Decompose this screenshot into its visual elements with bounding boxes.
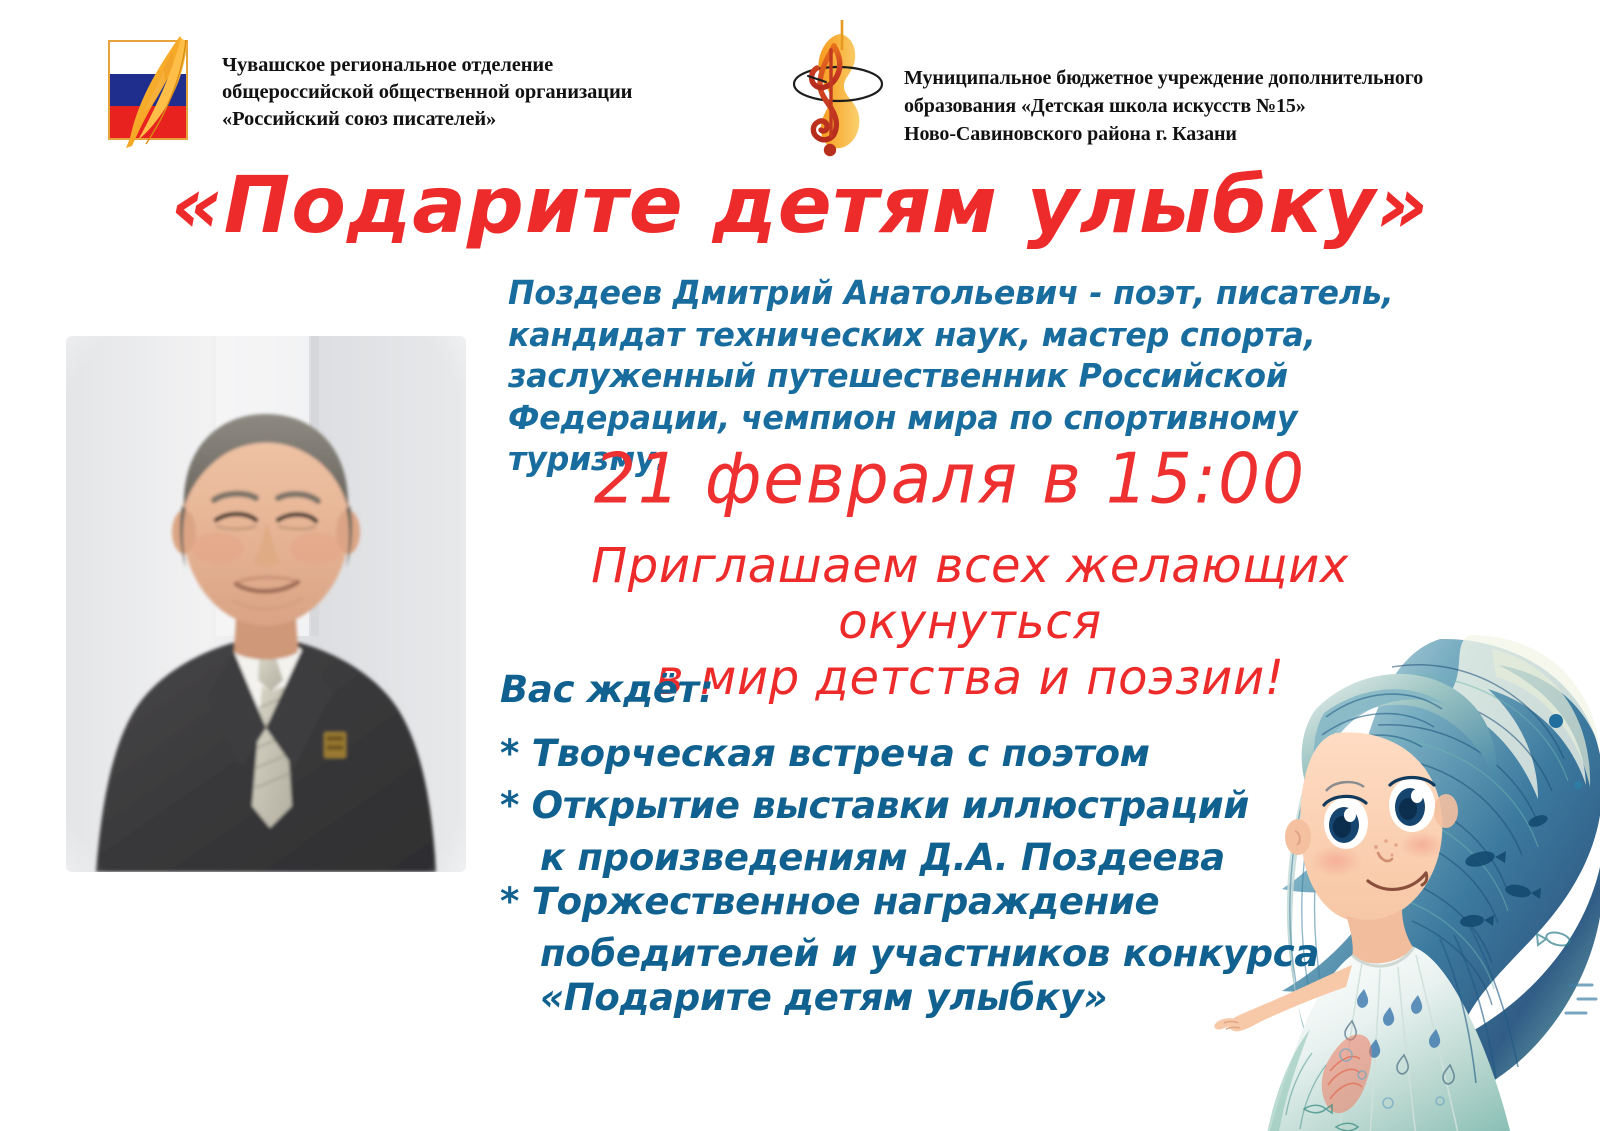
event-date: 21 февраля в 15:00	[470, 438, 1430, 521]
list-item: * Торжественное награждение	[500, 880, 1380, 924]
org-block-art-school: Муниципальное бюджетное учреждение допол…	[790, 20, 1423, 170]
page-title: «Подарите детям улыбку»	[0, 158, 1600, 254]
program-lead: Вас ждёт:	[500, 668, 1380, 712]
org-block-writers-union: Чувашское региональное отделение общерос…	[100, 36, 632, 146]
list-item: * Открытие выставки иллюстраций	[500, 784, 1380, 828]
list-item-continuation: победителей и участников конкурса «Подар…	[500, 932, 1380, 1020]
poster-header: Чувашское региональное отделение общерос…	[0, 0, 1600, 160]
portrait-illustration	[66, 336, 466, 872]
russian-flag-quill-icon	[100, 36, 204, 146]
quill-feather-icon	[118, 34, 196, 150]
org-right-text: Муниципальное бюджетное учреждение допол…	[904, 20, 1423, 148]
list-item-continuation: к произведениям Д.А. Поздеева	[500, 836, 1380, 880]
violin-clef-glyph	[790, 20, 886, 170]
poet-portrait-photo	[66, 336, 466, 872]
program-list: Вас ждёт: * Творческая встреча с поэтом …	[500, 668, 1380, 1020]
org-left-text: Чувашское региональное отделение общерос…	[222, 50, 632, 133]
violin-treble-clef-icon	[790, 20, 886, 170]
list-item: * Творческая встреча с поэтом	[500, 732, 1380, 776]
portrait-frame	[66, 336, 466, 872]
invitation-line-1: Приглашаем всех желающих окунуться	[591, 538, 1349, 650]
poster-canvas: Чувашское региональное отделение общерос…	[0, 0, 1600, 1131]
